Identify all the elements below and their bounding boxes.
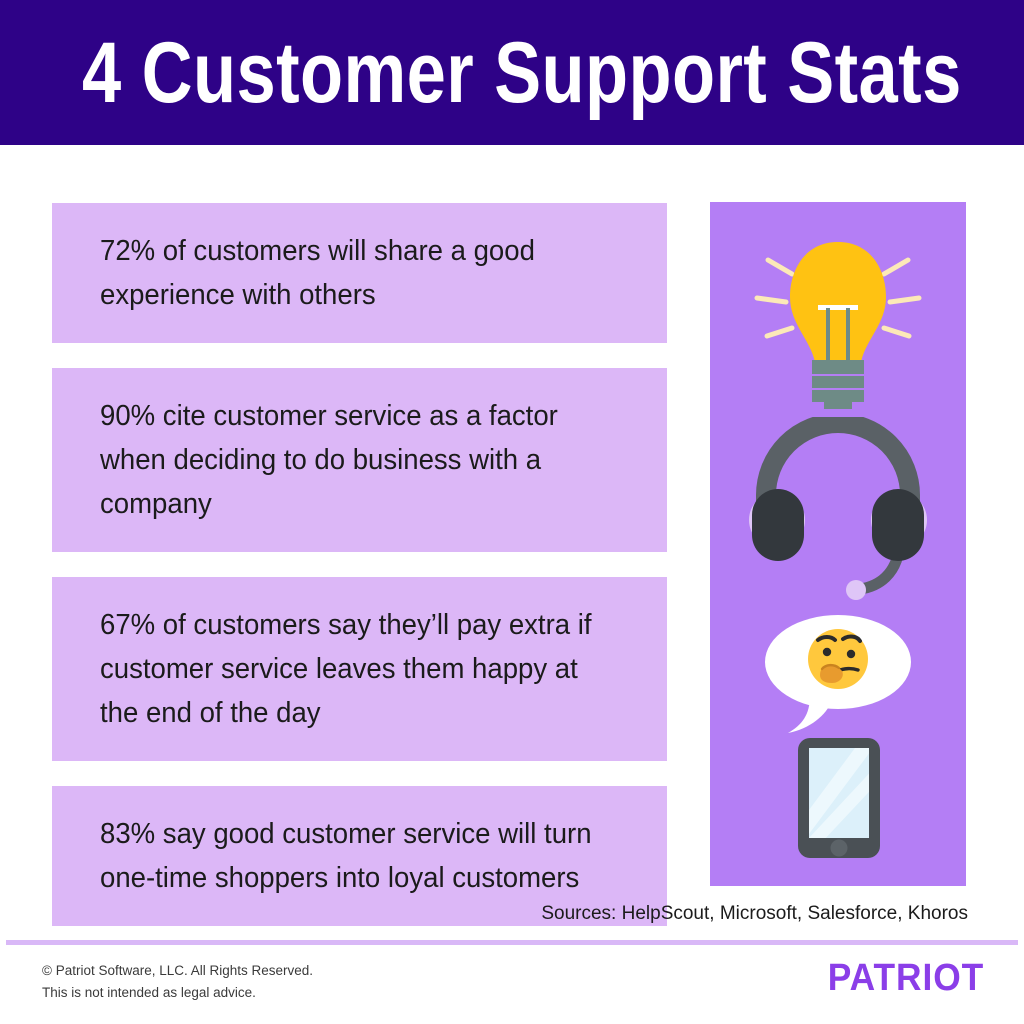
stats-list: 72% of customers will share a good exper… <box>52 203 667 951</box>
smartphone-icon <box>710 730 966 890</box>
stat-box: 67% of customers say they’ll pay extra i… <box>52 577 667 761</box>
page-title: 4 Customer Support Stats <box>82 18 787 128</box>
illustration-panel <box>710 202 966 886</box>
footer-divider <box>6 940 1018 945</box>
sources-line: Sources: HelpScout, Microsoft, Salesforc… <box>541 903 968 925</box>
stat-text: 72% of customers will share a good exper… <box>100 229 610 317</box>
stat-box: 72% of customers will share a good exper… <box>52 203 667 343</box>
stat-box: 90% cite customer service as a factor wh… <box>52 368 667 552</box>
disclaimer-text: This is not intended as legal advice. <box>42 982 313 1004</box>
stat-text: 83% say good customer service will turn … <box>100 812 610 900</box>
header-band: 4 Customer Support Stats <box>0 0 1024 145</box>
patriot-logo: PATRIOT <box>828 957 984 1000</box>
footer-legal: © Patriot Software, LLC. All Rights Rese… <box>42 960 313 1004</box>
speech-bubble-thinking-icon <box>710 607 966 737</box>
copyright-text: © Patriot Software, LLC. All Rights Rese… <box>42 960 313 982</box>
stat-text: 67% of customers say they’ll pay extra i… <box>100 603 610 735</box>
lightbulb-icon <box>710 202 966 417</box>
headset-icon <box>710 417 966 607</box>
stat-text: 90% cite customer service as a factor wh… <box>100 394 610 526</box>
